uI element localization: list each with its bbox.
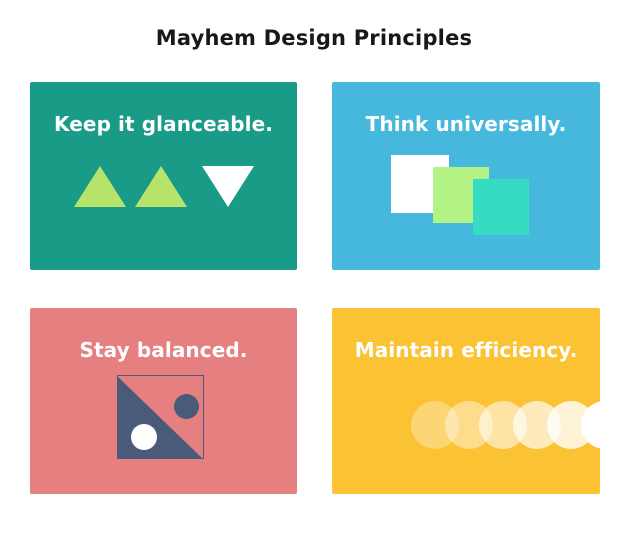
triangle-up-icon: [135, 166, 187, 207]
principle-card-stay-balanced[interactable]: Stay balanced.: [30, 308, 297, 494]
efficiency-circle-shape: [445, 401, 493, 449]
balanced-artwork: [30, 308, 297, 494]
triangle-up-icon: [74, 166, 126, 207]
principle-title: Keep it glanceable.: [30, 112, 297, 136]
balance-square: [117, 375, 204, 459]
efficiency-circle-shape: [547, 401, 595, 449]
square-turquoise-shape: [473, 179, 529, 235]
universally-artwork: [332, 82, 600, 270]
principle-card-keep-it-glanceable[interactable]: Keep it glanceable.: [30, 82, 297, 270]
principle-title: Maintain efficiency.: [332, 338, 600, 362]
page-title: Mayhem Design Principles: [0, 26, 628, 50]
balance-triangle-shape: [117, 376, 202, 458]
principles-grid: Keep it glanceable. Think universally. S…: [30, 82, 598, 494]
triangle-down-icon: [202, 166, 254, 207]
efficiency-artwork: [332, 308, 600, 494]
principle-card-think-universally[interactable]: Think universally.: [332, 82, 600, 270]
dot-white-shape: [131, 424, 157, 450]
efficiency-circle-shape: [479, 401, 527, 449]
balance-square-outline: [117, 375, 204, 459]
efficiency-circle-shape: [581, 401, 600, 449]
principle-title: Think universally.: [332, 112, 600, 136]
efficiency-circle-shape: [411, 401, 459, 449]
glanceable-artwork: [30, 82, 297, 270]
principle-title: Stay balanced.: [30, 338, 297, 362]
principle-card-maintain-efficiency[interactable]: Maintain efficiency.: [332, 308, 600, 494]
dot-dark-shape: [174, 394, 199, 419]
efficiency-circle-shape: [513, 401, 561, 449]
square-green-shape: [433, 167, 489, 223]
square-white-shape: [391, 155, 449, 213]
